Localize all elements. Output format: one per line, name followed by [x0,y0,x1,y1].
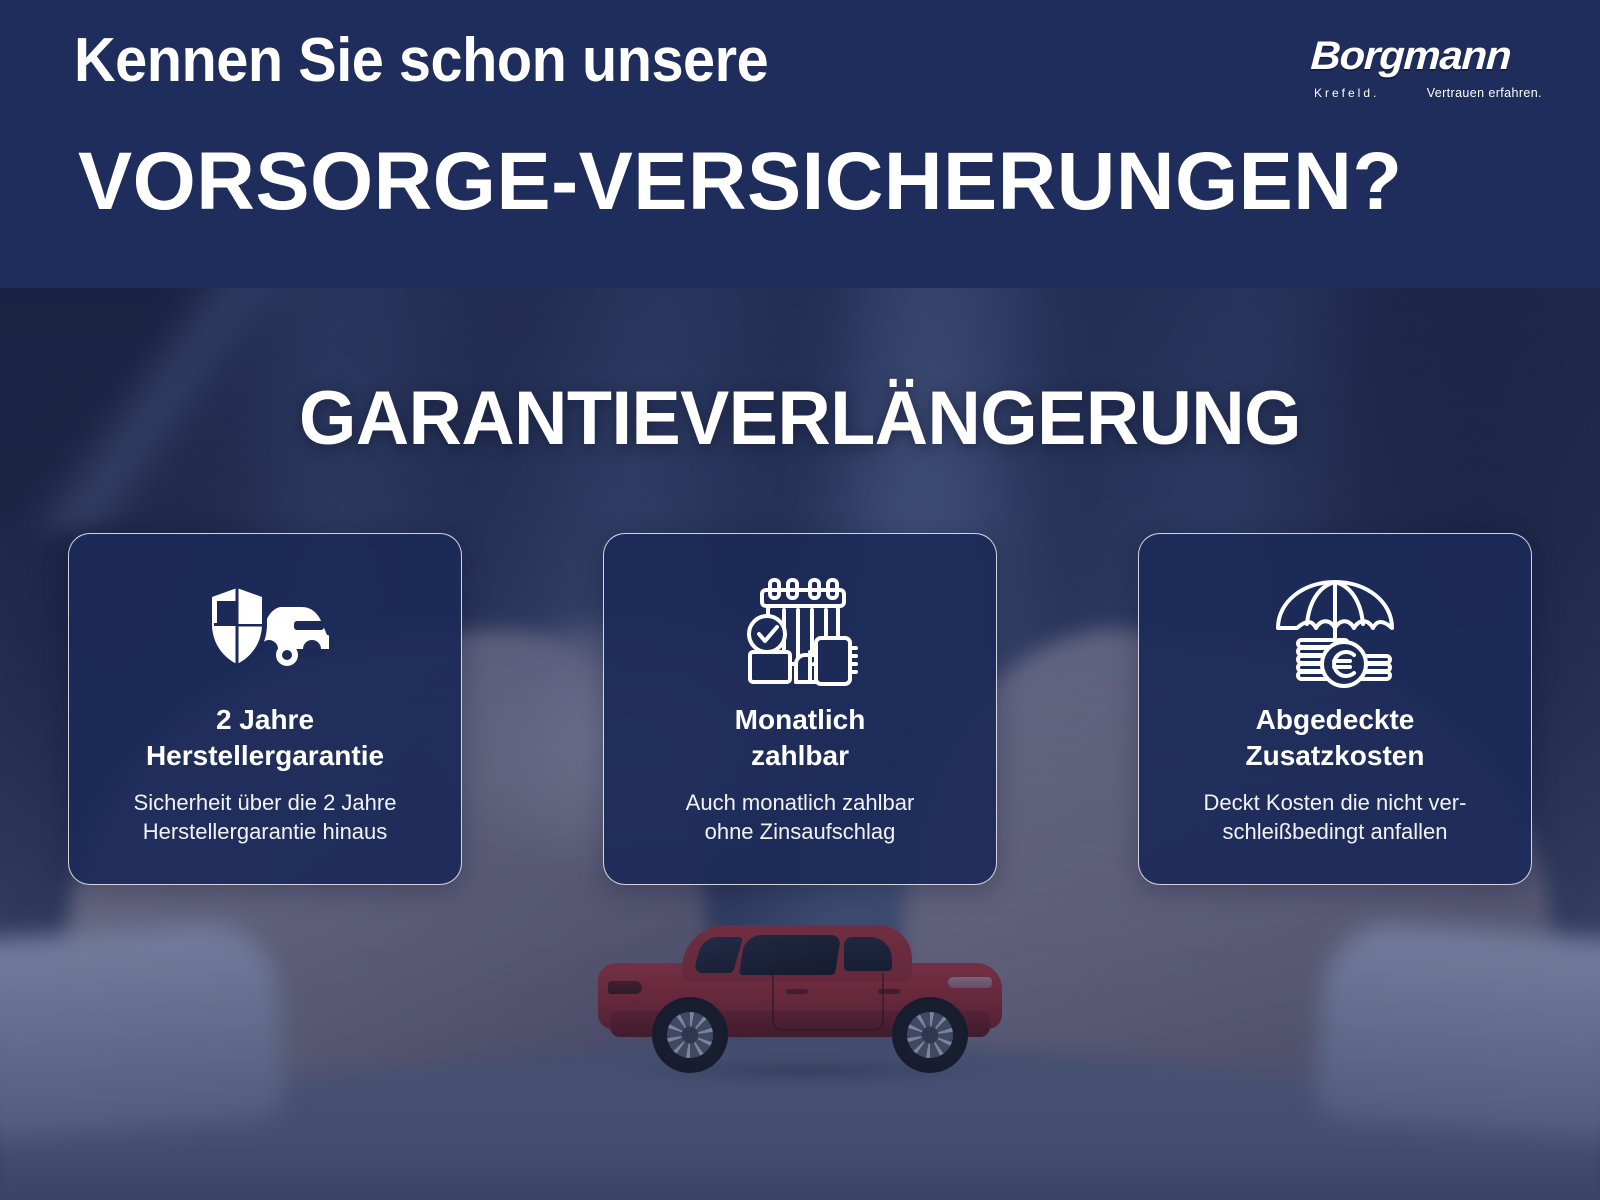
card-title-line1: Monatlich [735,704,866,735]
feature-card-monthly-payment[interactable]: Monatlich zahlbar Auch monatlich zahlbar… [603,533,997,885]
card-title-line2: Zusatzkosten [1246,740,1425,771]
card-title: Abgedeckte Zusatzkosten [1246,702,1425,774]
borgmann-logo[interactable]: Borgmann Krefeld. Vertrauen erfahren. [1312,34,1542,108]
logo-wordmark: Borgmann [1310,34,1552,79]
feature-card-list: 2 Jahre Herstellergarantie Sicherheit üb… [68,533,1532,885]
card-title-line1: Abgedeckte [1256,704,1415,735]
card-title-line1: 2 Jahre [216,704,314,735]
feature-card-extra-costs[interactable]: Abgedeckte Zusatzkosten Deckt Kosten die… [1138,533,1532,885]
promo-banner: Kennen Sie schon unsere VORSORGE-VERSICH… [0,0,1600,1200]
umbrella-coins-icon [1272,572,1398,692]
logo-tagline-city: Krefeld. [1314,86,1379,100]
headline-line-1: Kennen Sie schon unsere [74,28,768,93]
card-title: Monatlich zahlbar [735,702,866,774]
card-desc-line2: Herstellergarantie hinaus [143,819,388,844]
card-desc-line1: Auch monatlich zahlbar [686,790,915,815]
card-desc-line2: schleißbedingt anfallen [1222,819,1447,844]
feature-card-warranty[interactable]: 2 Jahre Herstellergarantie Sicherheit üb… [68,533,462,885]
card-description: Deckt Kosten die nicht ver- schleißbedin… [1204,788,1467,847]
headline-line-2: VORSORGE-VERSICHERUNGEN? [78,140,1402,224]
logo-tagline-slogan: Vertrauen erfahren. [1427,86,1542,100]
card-desc-line2: ohne Zinsaufschlag [705,819,896,844]
calendar-payment-icon [740,572,860,692]
main-title: GARANTIEVERLÄNGERUNG [24,375,1576,462]
card-desc-line1: Sicherheit über die 2 Jahre [134,790,397,815]
card-title-line2: zahlbar [751,740,849,771]
header-band: Kennen Sie schon unsere VORSORGE-VERSICH… [0,0,1600,288]
card-description: Auch monatlich zahlbar ohne Zinsaufschla… [686,788,915,847]
card-description: Sicherheit über die 2 Jahre Herstellerga… [134,788,397,847]
card-title: 2 Jahre Herstellergarantie [146,702,384,774]
logo-tagline: Krefeld. Vertrauen erfahren. [1314,84,1542,102]
card-desc-line1: Deckt Kosten die nicht ver- [1204,790,1467,815]
card-title-line2: Herstellergarantie [146,740,384,771]
shield-car-icon [201,572,329,692]
